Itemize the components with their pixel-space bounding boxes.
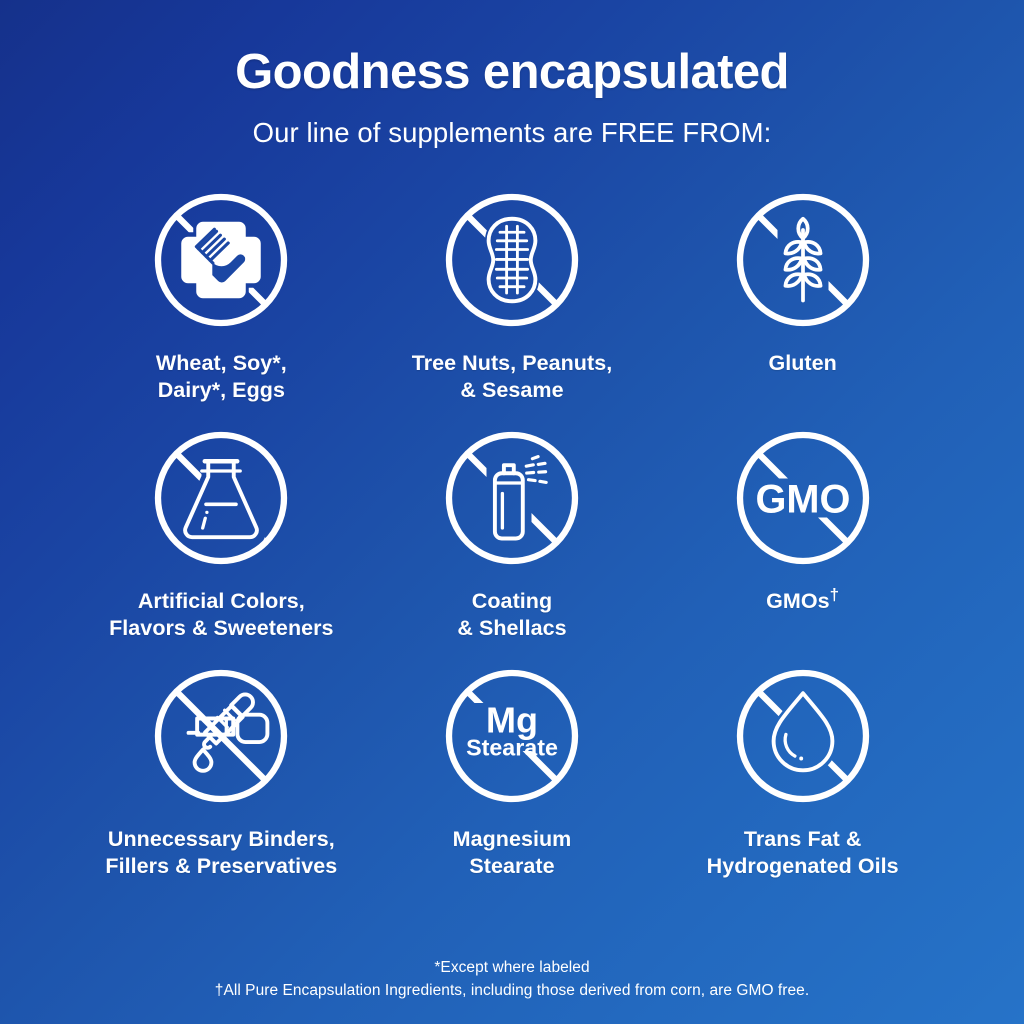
grid-item-label: Magnesium Stearate	[453, 826, 572, 881]
grid-item-gmo: GMO GMOs†	[657, 423, 948, 661]
grid-item-label: Gluten	[768, 350, 836, 378]
dagger-footnote-marker: †	[830, 585, 840, 604]
grid-item-trans-fat: Trans Fat & Hydrogenated Oils	[657, 661, 948, 899]
grid-item-gluten: Gluten	[657, 185, 948, 423]
page-title: Goodness encapsulated	[0, 46, 1024, 99]
no-spray-can-icon	[437, 423, 587, 573]
grid-item-label: Tree Nuts, Peanuts, & Sesame	[412, 350, 613, 405]
footnote-dagger: †All Pure Encapsulation Ingredients, inc…	[0, 979, 1024, 1002]
page-subtitle: Our line of supplements are FREE FROM:	[0, 116, 1024, 149]
grid-item-coating: Coating & Shellacs	[367, 423, 658, 661]
free-from-grid: Wheat, Soy*, Dairy*, Eggs	[76, 185, 948, 899]
grid-item-label: Artificial Colors, Flavors & Sweeteners	[109, 588, 333, 643]
grid-item-binders: Unnecessary Binders, Fillers & Preservat…	[76, 661, 367, 899]
no-magnesium-stearate-icon: Mg Stearate	[437, 661, 587, 811]
footnote-asterisk: *Except where labeled	[0, 956, 1024, 979]
no-wheat-stalk-icon	[728, 185, 878, 335]
grid-item-label: Wheat, Soy*, Dairy*, Eggs	[156, 350, 287, 405]
no-oil-droplet-icon	[728, 661, 878, 811]
no-peanut-icon	[437, 185, 587, 335]
grid-item-artificial-colors: Artificial Colors, Flavors & Sweeteners	[76, 423, 367, 661]
stearate-icon-text: Stearate	[466, 734, 558, 760]
no-dropper-icon	[146, 661, 296, 811]
grid-item-label: Coating & Shellacs	[457, 588, 566, 643]
grid-item-label-text: GMOs	[766, 589, 830, 613]
no-allergen-cross-fork-icon	[146, 185, 296, 335]
grid-item-label: GMOs†	[766, 588, 839, 616]
grid-item-magnesium-stearate: Mg Stearate Magnesium Stearate	[367, 661, 658, 899]
infographic-poster: Goodness encapsulated Our line of supple…	[0, 0, 1024, 1024]
header: Goodness encapsulated Our line of supple…	[0, 0, 1024, 149]
grid-item-allergens: Wheat, Soy*, Dairy*, Eggs	[76, 185, 367, 423]
footnotes: *Except where labeled †All Pure Encapsul…	[0, 956, 1024, 1003]
grid-item-label: Trans Fat & Hydrogenated Oils	[707, 826, 899, 881]
gmo-icon-text: GMO	[755, 477, 850, 521]
grid-item-label: Unnecessary Binders, Fillers & Preservat…	[105, 826, 337, 881]
no-gmo-icon: GMO	[728, 423, 878, 573]
grid-item-nuts: Tree Nuts, Peanuts, & Sesame	[367, 185, 658, 423]
no-flask-icon	[146, 423, 296, 573]
